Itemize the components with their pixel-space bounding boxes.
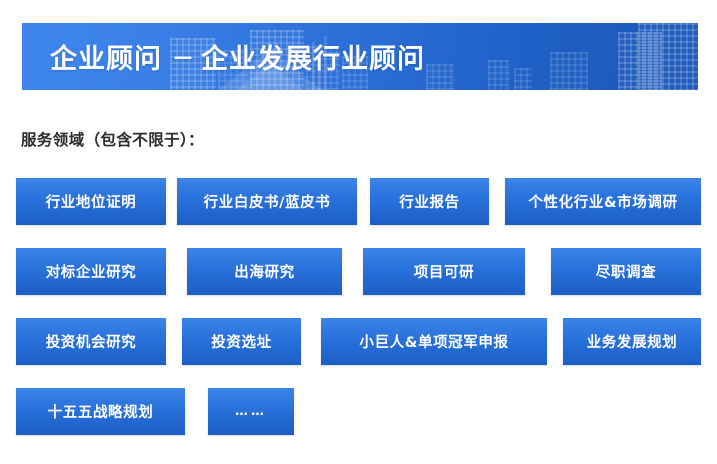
- service-tag-button[interactable]: 个性化行业&市场调研: [505, 178, 701, 225]
- banner-title-main: 企业顾问: [50, 37, 162, 76]
- service-tag-button[interactable]: 行业白皮书/蓝皮书: [177, 178, 357, 225]
- service-tag-button[interactable]: ……: [208, 388, 294, 435]
- banner-title-separator: －: [162, 41, 201, 73]
- service-tag-button[interactable]: 尽职调查: [551, 248, 701, 295]
- page-title: 企业顾问 － 企业发展行业顾问: [50, 23, 425, 90]
- service-tag-row: 行业地位证明行业白皮书/蓝皮书行业报告个性化行业&市场调研: [0, 178, 717, 225]
- building-block: [426, 64, 454, 90]
- service-tag-button[interactable]: 出海研究: [187, 248, 342, 295]
- service-tag-button[interactable]: 行业报告: [370, 178, 489, 225]
- header-banner: 企业顾问 － 企业发展行业顾问: [22, 23, 698, 90]
- service-tag-button[interactable]: 行业地位证明: [16, 178, 166, 225]
- service-tag-grid: 行业地位证明行业白皮书/蓝皮书行业报告个性化行业&市场调研对标企业研究出海研究项…: [0, 178, 717, 458]
- section-label: 服务领域（包含不限于）：: [21, 128, 204, 150]
- service-tag-button[interactable]: 业务发展规划: [563, 318, 701, 365]
- service-tag-button[interactable]: 项目可研: [363, 248, 525, 295]
- building-block: [638, 23, 698, 90]
- building-block: [550, 52, 588, 90]
- service-tag-button[interactable]: 十五五战略规划: [16, 388, 185, 435]
- service-tag-button[interactable]: 投资选址: [182, 318, 301, 365]
- service-tag-button[interactable]: 对标企业研究: [16, 248, 166, 295]
- building-block: [514, 68, 532, 90]
- banner-title-sub: 企业发展行业顾问: [201, 37, 425, 76]
- service-tag-button[interactable]: 投资机会研究: [16, 318, 166, 365]
- service-tag-button[interactable]: 小巨人&单项冠军申报: [321, 318, 547, 365]
- building-block: [488, 60, 510, 90]
- service-tag-row: 十五五战略规划……: [0, 388, 717, 435]
- service-tag-row: 对标企业研究出海研究项目可研尽职调查: [0, 248, 717, 295]
- service-tag-row: 投资机会研究投资选址小巨人&单项冠军申报业务发展规划: [0, 318, 717, 365]
